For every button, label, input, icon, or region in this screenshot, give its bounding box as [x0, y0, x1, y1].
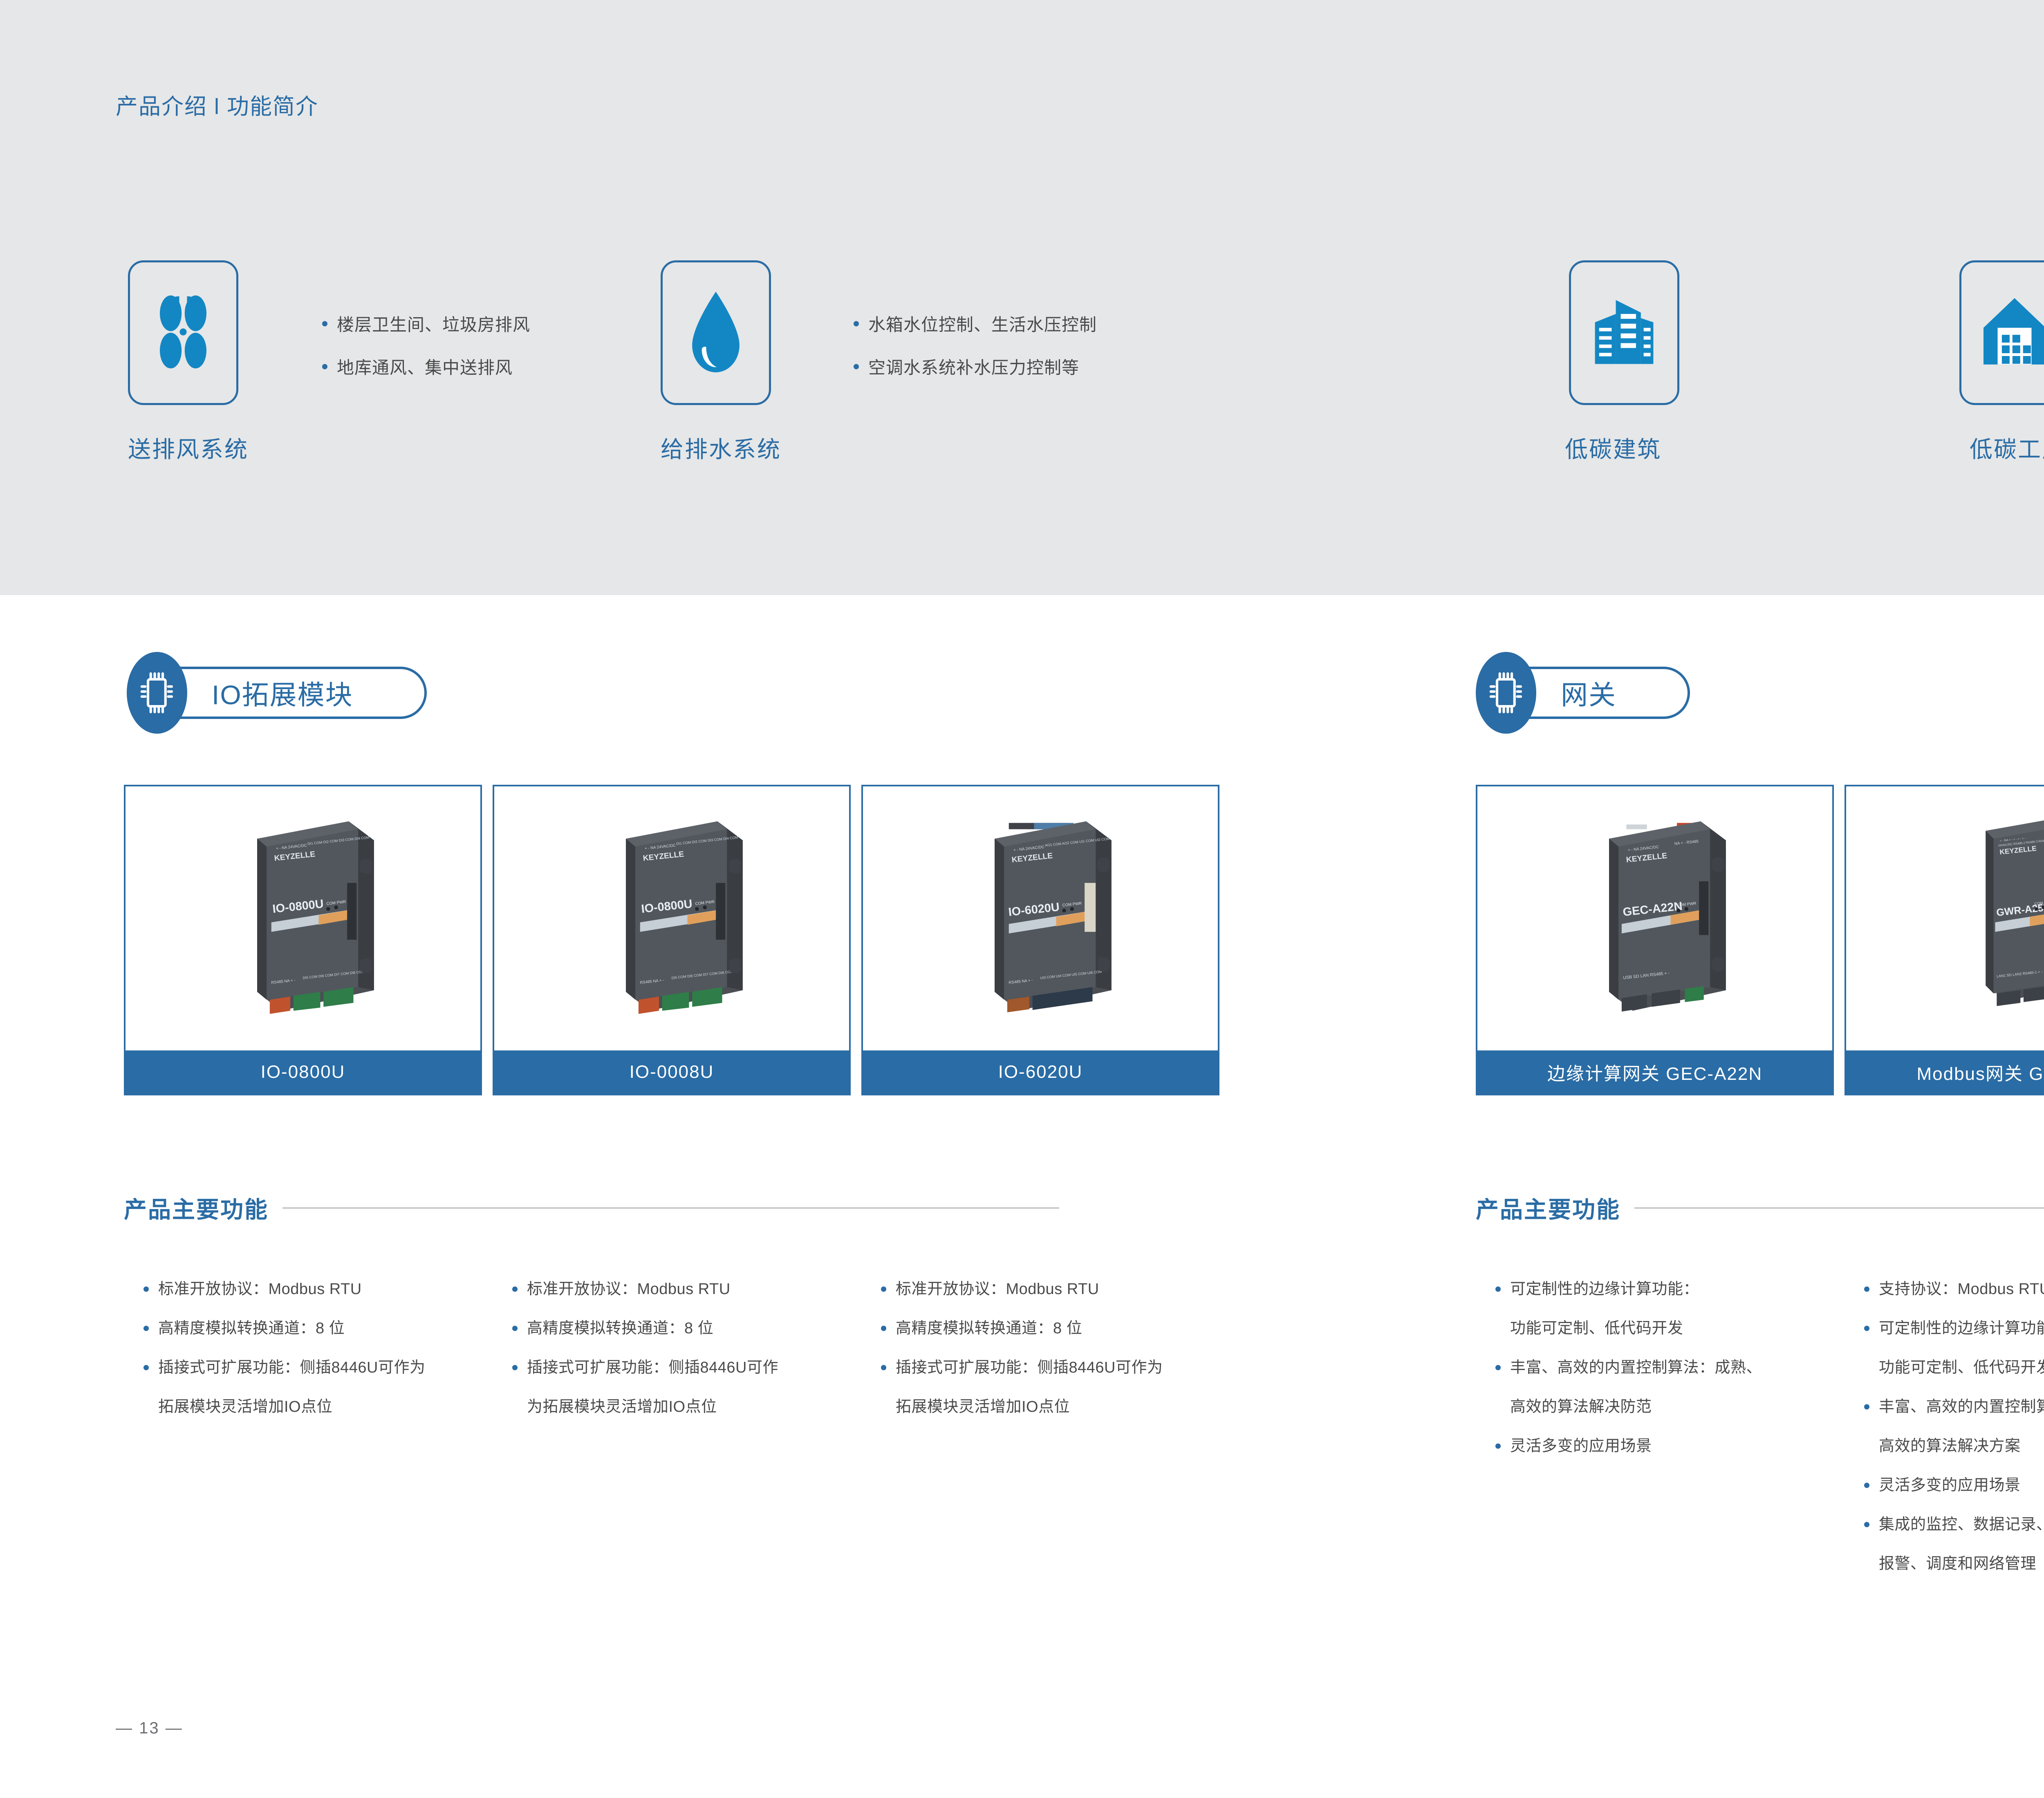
list-item: 楼层卫生间、垃圾房排风	[319, 311, 530, 336]
scenario-tile-building	[1569, 260, 1679, 405]
scenario-caption-fan: 送排风系统	[128, 431, 249, 464]
list-item: 支持协议：Modbus RTU	[1861, 1270, 2044, 1309]
features-header-io: 产品主要功能	[124, 1191, 1219, 1225]
feature-column-1: 标准开放协议：Modbus RTU 高精度模拟转换通道：8 位 插接式可扩展功能…	[124, 1270, 500, 1426]
list-item: 插接式可扩展功能：侧插8446U可作 为拓展模块灵活增加IO点位	[509, 1348, 869, 1426]
office-building-icon	[1589, 294, 1659, 372]
list-item: 可定制性的边缘计算功能： 功能可定制、低代码开发	[1492, 1270, 1852, 1348]
list-item: 插接式可扩展功能：侧插8446U可作为 拓展模块灵活增加IO点位	[140, 1348, 500, 1426]
brochure-spread: 产品介绍 l 功能简介 产品介绍 l 功能简介 送排风系统 楼层卫生间、垃圾房排…	[0, 0, 2044, 1798]
features-header-gateway: 产品主要功能	[1476, 1191, 2044, 1225]
scenario-tile-fan	[128, 260, 238, 405]
product-card[interactable]: IO-6020U KEYZELLE + - NA 24VAC/DC AO1 CO…	[861, 785, 1219, 1095]
list-item: 灵活多变的应用场景	[1492, 1426, 1852, 1466]
list-item: 标准开放协议：Modbus RTU	[140, 1270, 500, 1309]
list-item: 高精度模拟转换通道：8 位	[509, 1309, 869, 1348]
feature-column-3: 标准开放协议：Modbus RTU 高精度模拟转换通道：8 位 插接式可扩展功能…	[861, 1270, 1237, 1426]
product-card[interactable]: IO-0800U KEYZELLE + - NA 24VAC/DC DI1 CO…	[493, 785, 851, 1095]
list-item: 高精度模拟转换通道：8 位	[878, 1309, 1237, 1348]
feature-column-1: 可定制性的边缘计算功能： 功能可定制、低代码开发 丰富、高效的内置控制算法：成熟…	[1476, 1270, 1852, 1466]
scenario-caption-factory: 低碳工厂	[1970, 431, 2044, 464]
list-item: 地库通风、集中送排风	[319, 354, 530, 379]
list-item: 水箱水位控制、生活水压控制	[850, 311, 1097, 336]
water-drop-icon	[685, 289, 746, 377]
list-item: 空调水系统补水压力控制等	[850, 354, 1097, 379]
product-label: IO-0008U	[494, 1050, 849, 1094]
divider	[1634, 1207, 2044, 1209]
product-image: IO-0800U KEYZELLE + - NA 24VAC/DC DI1 CO…	[126, 786, 480, 1050]
pill-label-gateway: 网关	[1513, 673, 1641, 712]
list-item: 标准开放协议：Modbus RTU	[509, 1270, 869, 1309]
pill-label-io: IO拓展模块	[164, 673, 378, 712]
fan-icon	[144, 290, 222, 376]
scenario-tile-water	[661, 260, 771, 405]
scenario-bullets-fan: 楼层卫生间、垃圾房排风 地库通风、集中送排风	[303, 311, 530, 397]
product-image: GWR-A25N KEYZELLE + - NA + - + - + - + -…	[1846, 786, 2044, 1050]
product-label: IO-6020U	[863, 1050, 1218, 1094]
list-item: 丰富、高效的内置控制算法：成熟、 高效的算法解决方案	[1861, 1387, 2044, 1466]
list-item: 集成的监控、数据记录、能耗计量、 报警、调度和网络管理	[1861, 1505, 2044, 1583]
device-photo-io-0008u: IO-0800U KEYZELLE + - NA 24VAC/DC DI1 CO…	[576, 804, 768, 1033]
device-photo-io-6020u: IO-6020U KEYZELLE + - NA 24VAC/DC AO1 CO…	[944, 804, 1136, 1033]
pill-outline: 网关	[1510, 667, 1690, 719]
list-item: 灵活多变的应用场景	[1861, 1466, 2044, 1505]
divider	[282, 1207, 1059, 1209]
device-photo-io-0800u: IO-0800U KEYZELLE + - NA 24VAC/DC DI1 CO…	[207, 804, 399, 1033]
product-label: IO-0800U	[126, 1050, 480, 1094]
feature-column-2: 支持协议：Modbus RTU 可定制性的边缘计算功能： 功能可定制、低代码开发…	[1845, 1270, 2044, 1583]
list-item: 标准开放协议：Modbus RTU	[878, 1270, 1237, 1309]
section-header-io: IO拓展模块	[127, 652, 429, 734]
device-photo-gwr-a25n: GWR-A25N KEYZELLE + - NA + - + - + - + -…	[1927, 804, 2044, 1033]
list-item: 高精度模拟转换通道：8 位	[140, 1309, 500, 1348]
section-header-gateway: 网关	[1476, 652, 1705, 734]
product-card[interactable]: GEC-A22N KEYZELLE + - NA 24VAC/DC NA + -…	[1476, 785, 1834, 1095]
list-item: 丰富、高效的内置控制算法：成熟、 高效的算法解决防范	[1492, 1348, 1852, 1426]
scenario-caption-water: 给排水系统	[661, 431, 781, 464]
scenario-tile-factory	[1959, 260, 2044, 405]
list-item: 插接式可扩展功能：侧插8446U可作为 拓展模块灵活增加IO点位	[878, 1348, 1237, 1426]
features-title: 产品主要功能	[124, 1191, 269, 1225]
product-image: IO-6020U KEYZELLE + - NA 24VAC/DC AO1 CO…	[863, 786, 1218, 1050]
device-photo-gec-a22n: GEC-A22N KEYZELLE + - NA 24VAC/DC NA + -…	[1559, 804, 1751, 1033]
scenario-bullets-water: 水箱水位控制、生活水压控制 空调水系统补水压力控制等	[834, 311, 1097, 397]
product-image: GEC-A22N KEYZELLE + - NA 24VAC/DC NA + -…	[1477, 786, 1832, 1050]
features-title: 产品主要功能	[1476, 1191, 1620, 1225]
factory-icon	[1978, 294, 2044, 372]
product-card[interactable]: IO-0800U KEYZELLE + - NA 24VAC/DC DI1 CO…	[124, 785, 482, 1095]
product-label: 边缘计算网关 GEC-A22N	[1477, 1050, 1832, 1094]
pill-outline: IO拓展模块	[161, 667, 427, 719]
product-image: IO-0800U KEYZELLE + - NA 24VAC/DC DI1 CO…	[494, 786, 849, 1050]
page-number-left: — 13 —	[116, 1719, 183, 1738]
feature-column-2: 标准开放协议：Modbus RTU 高精度模拟转换通道：8 位 插接式可扩展功能…	[493, 1270, 869, 1426]
product-label: Modbus网关 GWR-A25N	[1846, 1050, 2044, 1094]
product-card[interactable]: GWR-A25N KEYZELLE + - NA + - + - + - + -…	[1845, 785, 2044, 1095]
header-left: 产品介绍 l 功能简介	[116, 88, 318, 121]
list-item: 可定制性的边缘计算功能： 功能可定制、低代码开发	[1861, 1309, 2044, 1387]
scenario-caption-building: 低碳建筑	[1565, 431, 1661, 464]
